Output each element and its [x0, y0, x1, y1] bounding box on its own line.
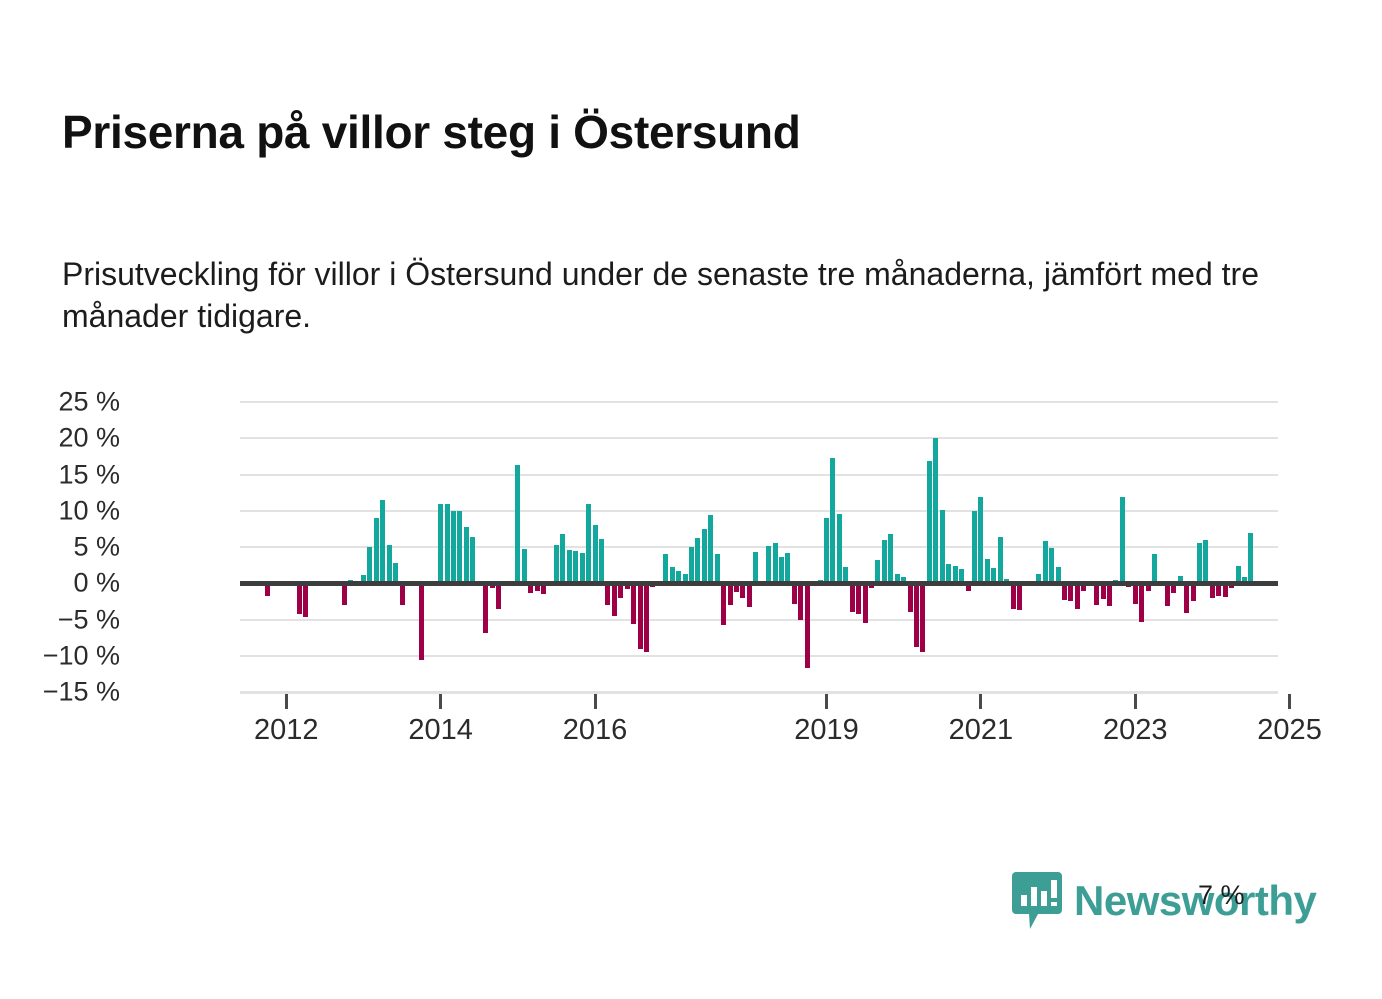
bar [1049, 548, 1054, 584]
bar [798, 583, 803, 619]
x-axis-tick [594, 694, 597, 709]
bar [580, 553, 585, 583]
bar [702, 529, 707, 583]
chart-page: Priserna på villor steg i Östersund Pris… [0, 0, 1382, 999]
bar [612, 583, 617, 616]
bar [837, 514, 842, 584]
bar [496, 583, 501, 608]
bar [1248, 533, 1253, 584]
bar [920, 583, 925, 652]
x-axis-tick-label: 2023 [1103, 714, 1168, 747]
bar [1094, 583, 1099, 605]
bar [785, 553, 790, 583]
bar [367, 547, 372, 583]
y-axis-tick-label: −10 % [0, 642, 120, 669]
bar [567, 550, 572, 583]
bar [978, 497, 983, 583]
newsworthy-logo: Newsworthy [1012, 872, 1316, 930]
bar [888, 534, 893, 583]
bar [1197, 543, 1202, 583]
x-axis-tick-label: 2012 [254, 714, 319, 747]
bar [908, 583, 913, 612]
bar [342, 583, 347, 605]
x-axis-tick [285, 694, 288, 709]
bar [747, 583, 752, 607]
logo-text: Newsworthy [1074, 880, 1316, 922]
bar [779, 557, 784, 583]
bar [522, 549, 527, 583]
bar [663, 554, 668, 583]
bar [830, 458, 835, 583]
bar [515, 465, 520, 583]
bar [728, 583, 733, 605]
bar [933, 438, 938, 583]
bar [792, 583, 797, 603]
x-axis-tick [979, 694, 982, 709]
bar-chart-speech-bubble-icon [1012, 872, 1062, 930]
zero-line [240, 581, 1278, 586]
y-axis-tick-label: −15 % [0, 679, 120, 706]
bar [721, 583, 726, 625]
bar [998, 537, 1003, 583]
bar [1120, 497, 1125, 583]
bar [1043, 541, 1048, 583]
bar [297, 583, 302, 614]
bar [695, 538, 700, 583]
bar [850, 583, 855, 612]
bar [875, 560, 880, 583]
bar [464, 527, 469, 584]
bar [1107, 583, 1112, 605]
bar [773, 543, 778, 584]
bar [451, 511, 456, 583]
x-axis-tick-label: 2025 [1257, 714, 1322, 747]
last-value-annotation: 7 % [1198, 880, 1245, 911]
bar [1011, 583, 1016, 608]
x-axis-tick-label: 2021 [949, 714, 1014, 747]
bar-series [240, 402, 1278, 692]
bar [400, 583, 405, 605]
bar [573, 551, 578, 584]
bar [599, 539, 604, 583]
x-axis-tick-label: 2014 [408, 714, 473, 747]
y-axis-tick-label: 15 % [0, 461, 120, 488]
chart-container: 25 %20 %15 %10 %5 %0 %−5 %−10 %−15 % 201… [0, 390, 1382, 770]
bar [303, 583, 308, 616]
bar [374, 518, 379, 583]
bar [689, 547, 694, 583]
chart-subtitle: Prisutveckling för villor i Östersund un… [62, 254, 1292, 337]
bar [914, 583, 919, 647]
bar [824, 518, 829, 583]
y-axis-tick-label: 10 % [0, 497, 120, 524]
bar [605, 583, 610, 605]
x-axis-tick-label: 2016 [563, 714, 628, 747]
y-axis-tick-label: 0 % [0, 570, 120, 597]
bar [1017, 583, 1022, 610]
bar [1139, 583, 1144, 621]
bar [927, 461, 932, 583]
bar [1203, 540, 1208, 583]
bar [483, 583, 488, 633]
bar [419, 583, 424, 660]
y-axis-tick-label: 25 % [0, 389, 120, 416]
bar [1184, 583, 1189, 613]
bar [586, 504, 591, 583]
bar [470, 537, 475, 583]
bar [380, 500, 385, 583]
x-axis-tick-label: 2019 [794, 714, 859, 747]
x-axis-tick [825, 694, 828, 709]
bar [638, 583, 643, 648]
bar [715, 554, 720, 584]
bar [856, 583, 861, 614]
bar [387, 545, 392, 583]
bar [631, 583, 636, 624]
bar [457, 511, 462, 583]
bar [554, 545, 559, 583]
bar [863, 583, 868, 623]
bar [1133, 583, 1138, 603]
x-axis: 2012201420162019202120232025 [240, 692, 1278, 762]
bar [766, 546, 771, 583]
y-axis-tick-label: 5 % [0, 534, 120, 561]
bar [1075, 583, 1080, 608]
y-axis-tick-label: −5 % [0, 606, 120, 633]
bar [1165, 583, 1170, 606]
x-axis-tick [1134, 694, 1137, 709]
bar [1152, 554, 1157, 583]
bar [593, 525, 598, 583]
bar [805, 583, 810, 668]
bar [753, 552, 758, 583]
bar [644, 583, 649, 652]
x-axis-tick [439, 694, 442, 709]
bar [882, 540, 887, 584]
x-axis-line [240, 692, 1278, 694]
bar [445, 504, 450, 584]
bar [438, 504, 443, 583]
x-axis-tick [1288, 694, 1291, 709]
bar [972, 511, 977, 583]
y-axis-tick-label: 20 % [0, 425, 120, 452]
bar [985, 559, 990, 583]
bar [708, 515, 713, 583]
page-title: Priserna på villor steg i Östersund [62, 107, 801, 159]
bar [393, 563, 398, 583]
plot-area: 25 %20 %15 %10 %5 %0 %−5 %−10 %−15 % [240, 402, 1278, 692]
bar [940, 510, 945, 583]
bar [560, 534, 565, 583]
